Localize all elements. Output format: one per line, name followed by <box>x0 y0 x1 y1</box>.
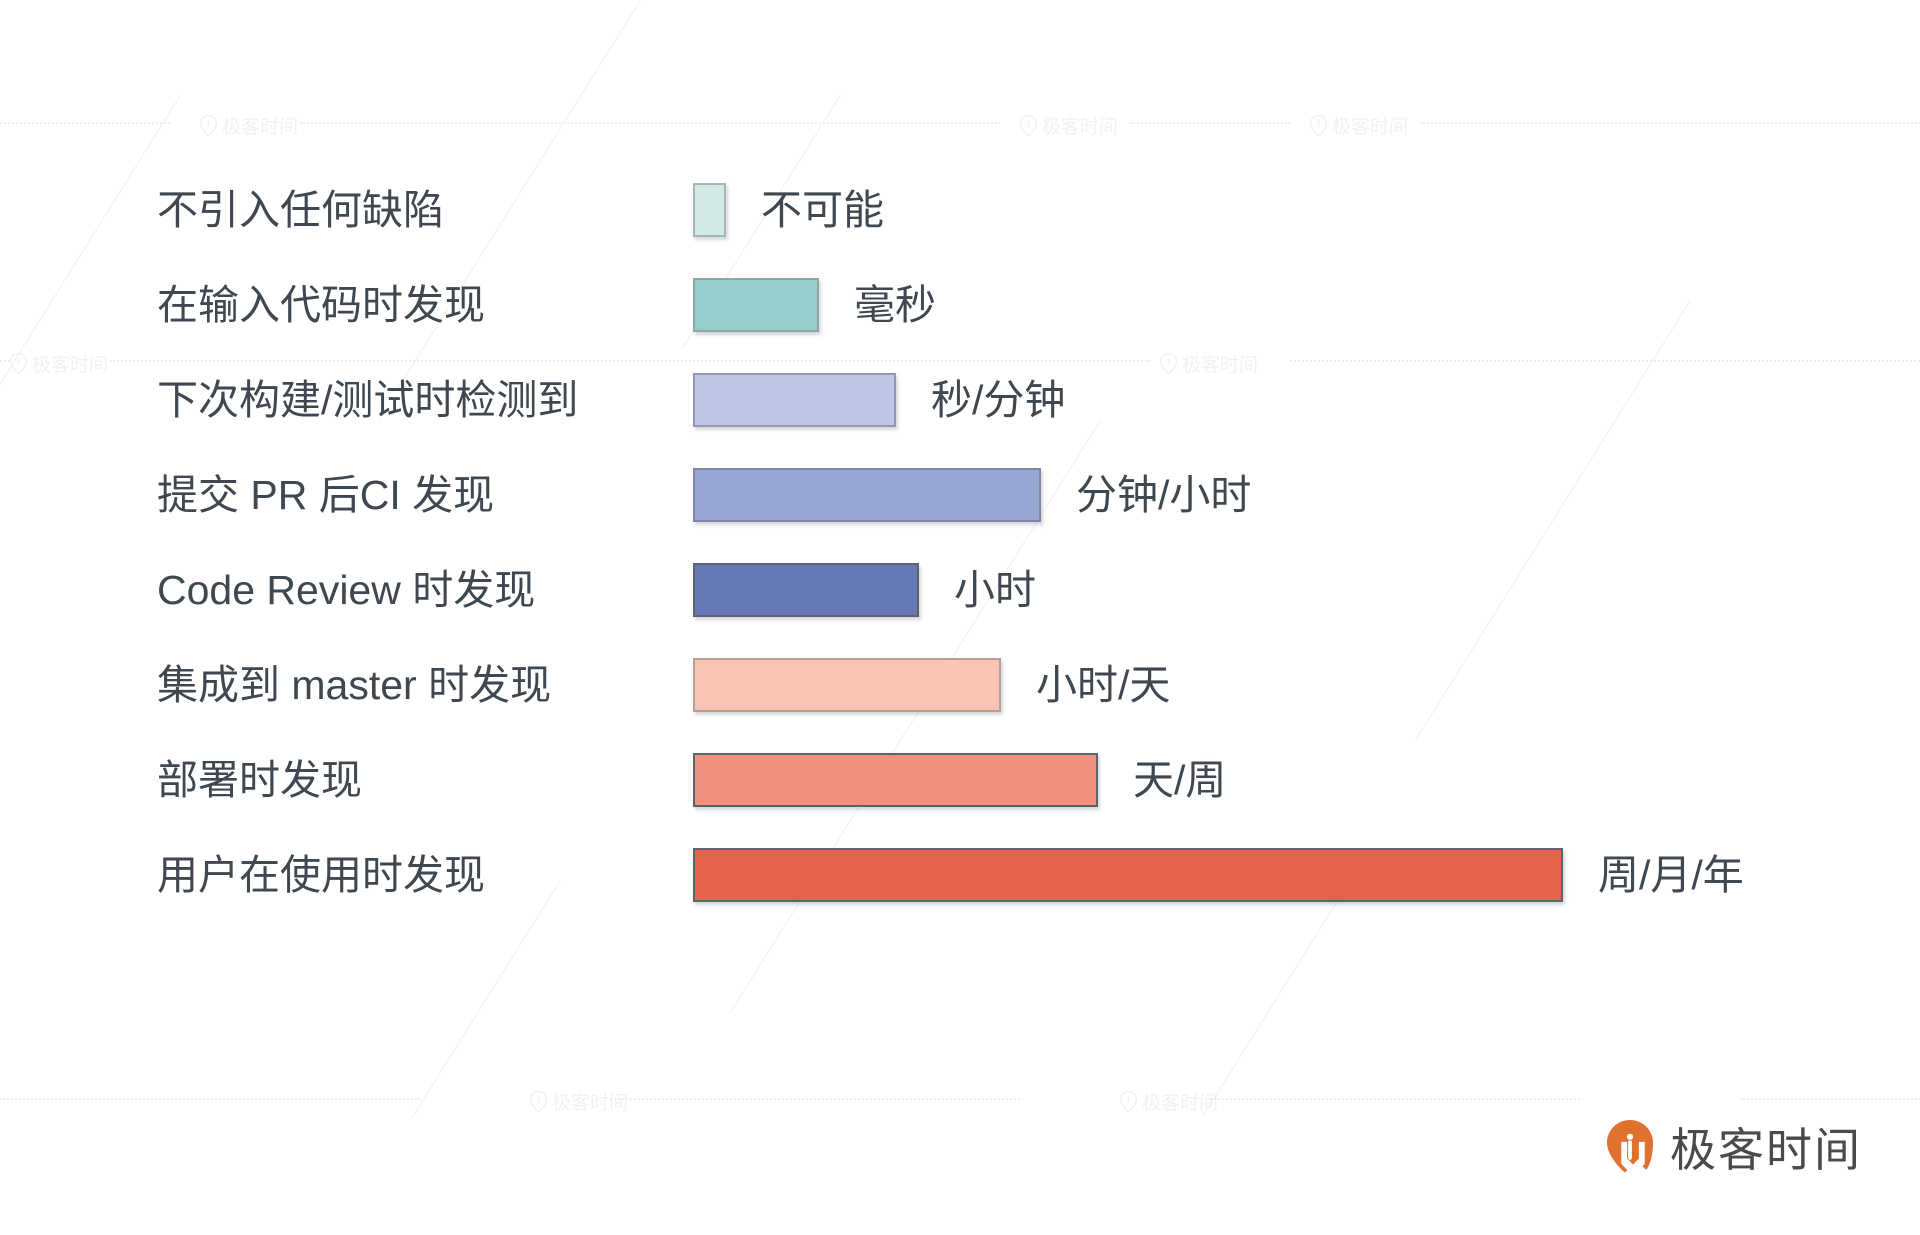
category-label: Code Review 时发现 <box>157 570 535 611</box>
brand-name: 极客时间 <box>1670 1114 1862 1180</box>
bar-group: 天/周 <box>693 753 1098 807</box>
bar-value-label: 小时/天 <box>1036 665 1170 706</box>
bar[interactable] <box>693 753 1098 807</box>
bar-group: 毫秒 <box>693 278 819 332</box>
bar[interactable] <box>693 563 919 617</box>
bar[interactable] <box>693 468 1041 522</box>
bar-group: 周/月/年 <box>693 848 1563 902</box>
bar-value-label: 天/周 <box>1133 760 1226 801</box>
brand-logo: 极客时间 <box>1604 1114 1862 1180</box>
category-label: 不引入任何缺陷 <box>157 190 444 231</box>
bar-group: 小时/天 <box>693 658 1001 712</box>
bar-value-label: 小时 <box>954 570 1036 611</box>
bar[interactable] <box>693 373 896 427</box>
chart-row: 下次构建/测试时检测到 秒/分钟 <box>0 364 1920 436</box>
bar-value-label: 分钟/小时 <box>1076 475 1251 516</box>
category-label: 用户在使用时发现 <box>157 855 485 896</box>
bar-value-label: 毫秒 <box>854 285 936 326</box>
category-label: 下次构建/测试时检测到 <box>157 380 578 421</box>
bar-group: 分钟/小时 <box>693 468 1041 522</box>
geektime-pin-icon <box>1604 1118 1656 1176</box>
bar[interactable] <box>693 278 819 332</box>
bar-group: 秒/分钟 <box>693 373 896 427</box>
chart-row: Code Review 时发现 小时 <box>0 554 1920 626</box>
chart-row: 在输入代码时发现 毫秒 <box>0 269 1920 341</box>
bar-value-label: 不可能 <box>761 190 884 231</box>
category-label: 集成到 master 时发现 <box>157 665 551 706</box>
bar[interactable] <box>693 658 1001 712</box>
bar-group: 小时 <box>693 563 919 617</box>
chart-row: 集成到 master 时发现 小时/天 <box>0 649 1920 721</box>
chart-row: 不引入任何缺陷 不可能 <box>0 174 1920 246</box>
bar-group: 不可能 <box>693 183 726 237</box>
chart-row: 用户在使用时发现 周/月/年 <box>0 839 1920 911</box>
bar[interactable] <box>693 848 1563 902</box>
category-label: 部署时发现 <box>157 760 362 801</box>
bar-value-label: 周/月/年 <box>1598 855 1744 896</box>
category-label: 提交 PR 后CI 发现 <box>157 475 494 516</box>
defect-detection-cost-bar-chart: 不引入任何缺陷 不可能 在输入代码时发现 毫秒 下次构建/测试时检测到 秒/分钟… <box>0 0 1920 1235</box>
chart-row: 提交 PR 后CI 发现 分钟/小时 <box>0 459 1920 531</box>
bar[interactable] <box>693 183 726 237</box>
chart-row: 部署时发现 天/周 <box>0 744 1920 816</box>
category-label: 在输入代码时发现 <box>157 285 485 326</box>
bar-value-label: 秒/分钟 <box>931 380 1065 421</box>
